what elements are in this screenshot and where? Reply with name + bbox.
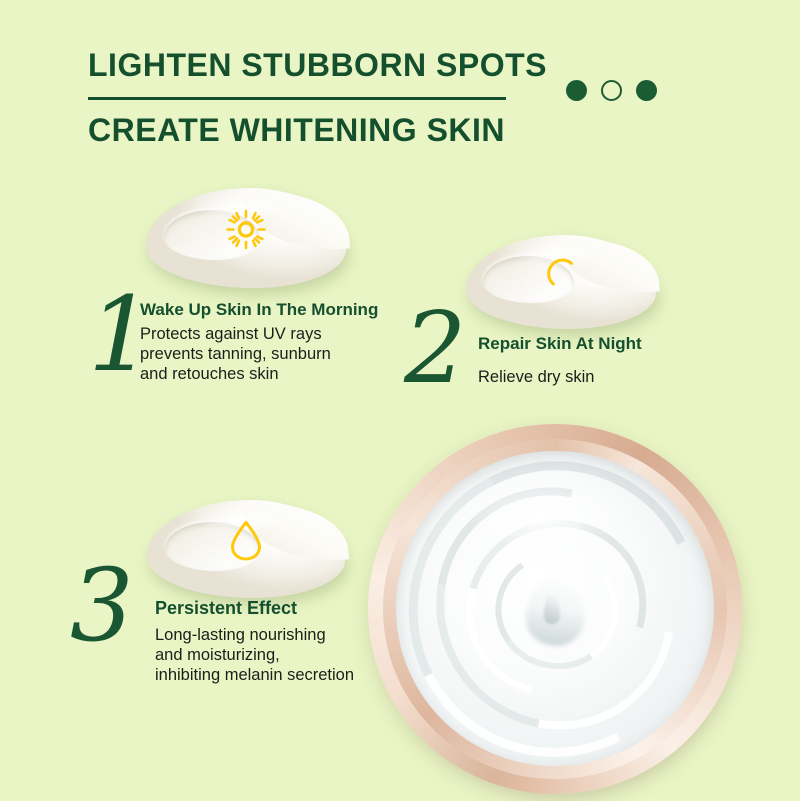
promo-canvas: LIGHTEN STUBBORN SPOTS CREATE WHITENING … [0, 0, 800, 800]
cream-swoosh-2 [466, 235, 656, 329]
jar-cream-well [396, 451, 713, 766]
pagination-dot-3[interactable] [636, 80, 657, 101]
feature-body-2: Relieve dry skin [478, 367, 728, 387]
headline-divider [88, 97, 506, 100]
cream-swoosh-3 [147, 500, 345, 598]
feature-title-2: Repair Skin At Night [478, 334, 642, 354]
product-jar-image [368, 424, 742, 794]
moon-icon [542, 255, 580, 298]
page-title-line-2: CREATE WHITENING SKIN [88, 112, 505, 149]
feature-body-1: Protects against UV rays prevents tannin… [140, 324, 410, 384]
pagination-dot-1[interactable] [566, 80, 587, 101]
pagination-dot-2[interactable] [601, 80, 622, 101]
feature-title-1: Wake Up Skin In The Morning [140, 300, 378, 320]
feature-number-2: 2 [404, 300, 466, 398]
feature-number-3: 3 [70, 556, 134, 656]
cream-swoosh-1 [146, 188, 346, 288]
feature-title-3: Persistent Effect [155, 598, 297, 619]
droplet-icon [228, 520, 264, 567]
sun-icon [225, 209, 267, 256]
pagination-dots[interactable] [566, 80, 657, 101]
page-title-line-1: LIGHTEN STUBBORN SPOTS [88, 47, 547, 84]
cream-highlight [466, 480, 618, 555]
